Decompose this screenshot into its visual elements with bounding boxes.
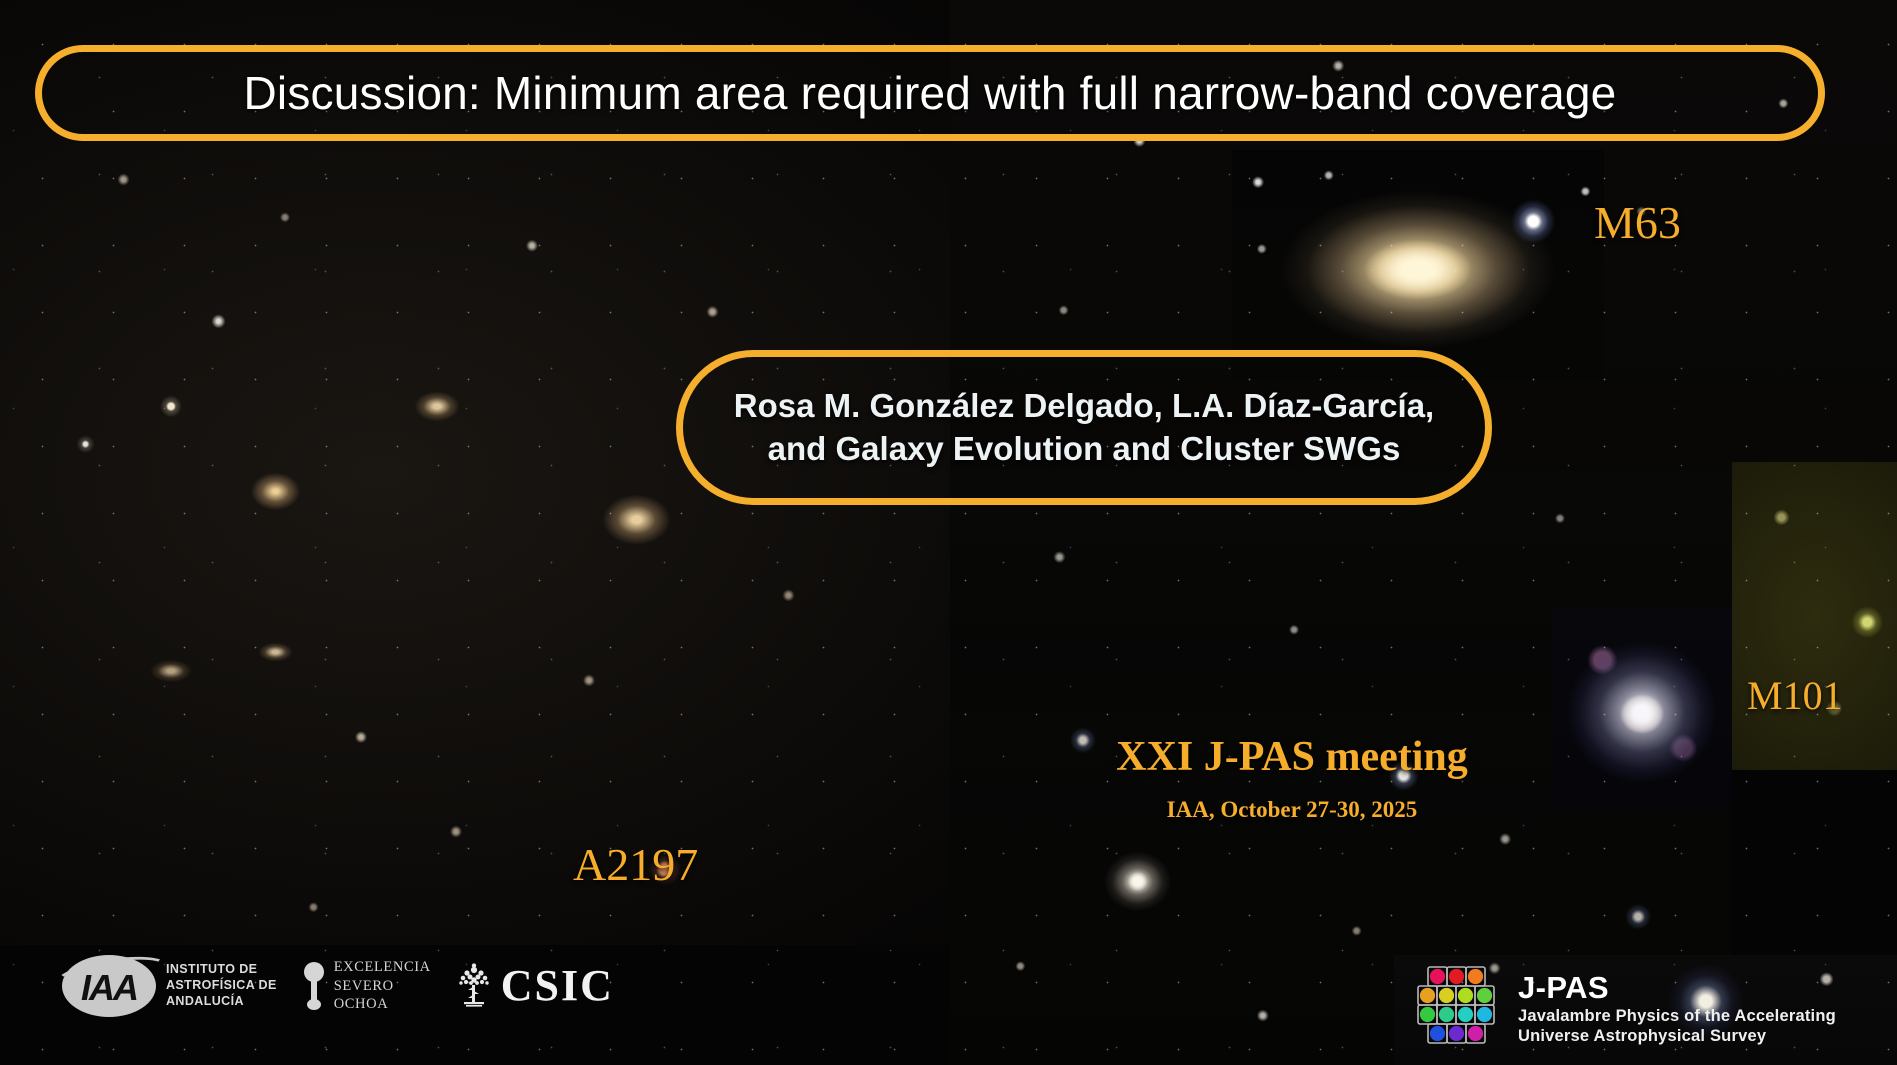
- background-image-m101-galaxy: [1552, 608, 1732, 808]
- page-title: Discussion: Minimum area required with f…: [216, 66, 1645, 120]
- csic-wordmark: CSIC: [501, 964, 614, 1008]
- severo-word-line-1: EXCELENCIA: [334, 958, 431, 977]
- slide-title-box: Discussion: Minimum area required with f…: [35, 45, 1825, 141]
- severo-ochoa-foot-shape: [307, 999, 321, 1010]
- meeting-title: XXI J-PAS meeting: [1062, 734, 1522, 780]
- jpas-name: J-PAS: [1518, 972, 1836, 1005]
- iaa-word-line-3: ANDALUCÍA: [166, 994, 277, 1010]
- jpas-logo: J-PAS Javalambre Physics of the Accelera…: [1408, 963, 1836, 1055]
- iaa-word-line-2: ASTROFÍSICA DE: [166, 978, 277, 994]
- object-label-m63: M63: [1594, 196, 1681, 249]
- severo-ochoa-keyhole-icon: [303, 962, 325, 1010]
- background-image-yellow-deep-field: [1732, 462, 1897, 770]
- authors-box: Rosa M. González Delgado, L.A. Díaz-Garc…: [676, 350, 1492, 505]
- severo-ochoa-head-shape: [304, 962, 324, 982]
- severo-word-line-3: OCHOA: [334, 995, 431, 1014]
- background-image-m63-galaxy: [1232, 150, 1604, 380]
- authors-line-2: and Galaxy Evolution and Cluster SWGs: [734, 428, 1434, 470]
- iaa-logo: IAA INSTITUTO DE ASTROFÍSICA DE ANDALUCÍ…: [62, 955, 277, 1017]
- meeting-date: IAA, October 27-30, 2025: [1062, 797, 1522, 823]
- iaa-ellipse-icon: IAA: [62, 955, 156, 1017]
- severo-ochoa-wordmark: EXCELENCIA SEVERO OCHOA: [334, 958, 431, 1015]
- severo-ochoa-logo: EXCELENCIA SEVERO OCHOA: [303, 958, 431, 1015]
- meeting-info-block: XXI J-PAS meeting IAA, October 27-30, 20…: [1062, 734, 1522, 823]
- jpas-subtitle-line-1: Javalambre Physics of the Accelerating: [1518, 1006, 1836, 1026]
- object-label-m101: M101: [1747, 672, 1843, 719]
- iaa-wordmark: INSTITUTO DE ASTROFÍSICA DE ANDALUCÍA: [166, 962, 277, 1009]
- jpas-wordmark: J-PAS Javalambre Physics of the Accelera…: [1518, 972, 1836, 1047]
- csic-tree-icon: [457, 963, 491, 1009]
- severo-word-line-2: SEVERO: [334, 977, 431, 996]
- presentation-slide: Discussion: Minimum area required with f…: [0, 0, 1897, 1065]
- institution-logo-strip: IAA INSTITUTO DE ASTROFÍSICA DE ANDALUCÍ…: [62, 955, 614, 1017]
- authors-line-1: Rosa M. González Delgado, L.A. Díaz-Garc…: [734, 385, 1434, 427]
- jpas-subtitle-line-2: Universe Astrophysical Survey: [1518, 1026, 1836, 1046]
- jpas-subtitle: Javalambre Physics of the Accelerating U…: [1518, 1006, 1836, 1046]
- csic-logo: CSIC: [457, 963, 614, 1009]
- iaa-word-line-1: INSTITUTO DE: [166, 962, 277, 978]
- jpas-filter-array-icon: [1408, 963, 1504, 1055]
- authors-text: Rosa M. González Delgado, L.A. Díaz-Garc…: [700, 385, 1468, 469]
- object-label-a2197: A2197: [573, 838, 698, 891]
